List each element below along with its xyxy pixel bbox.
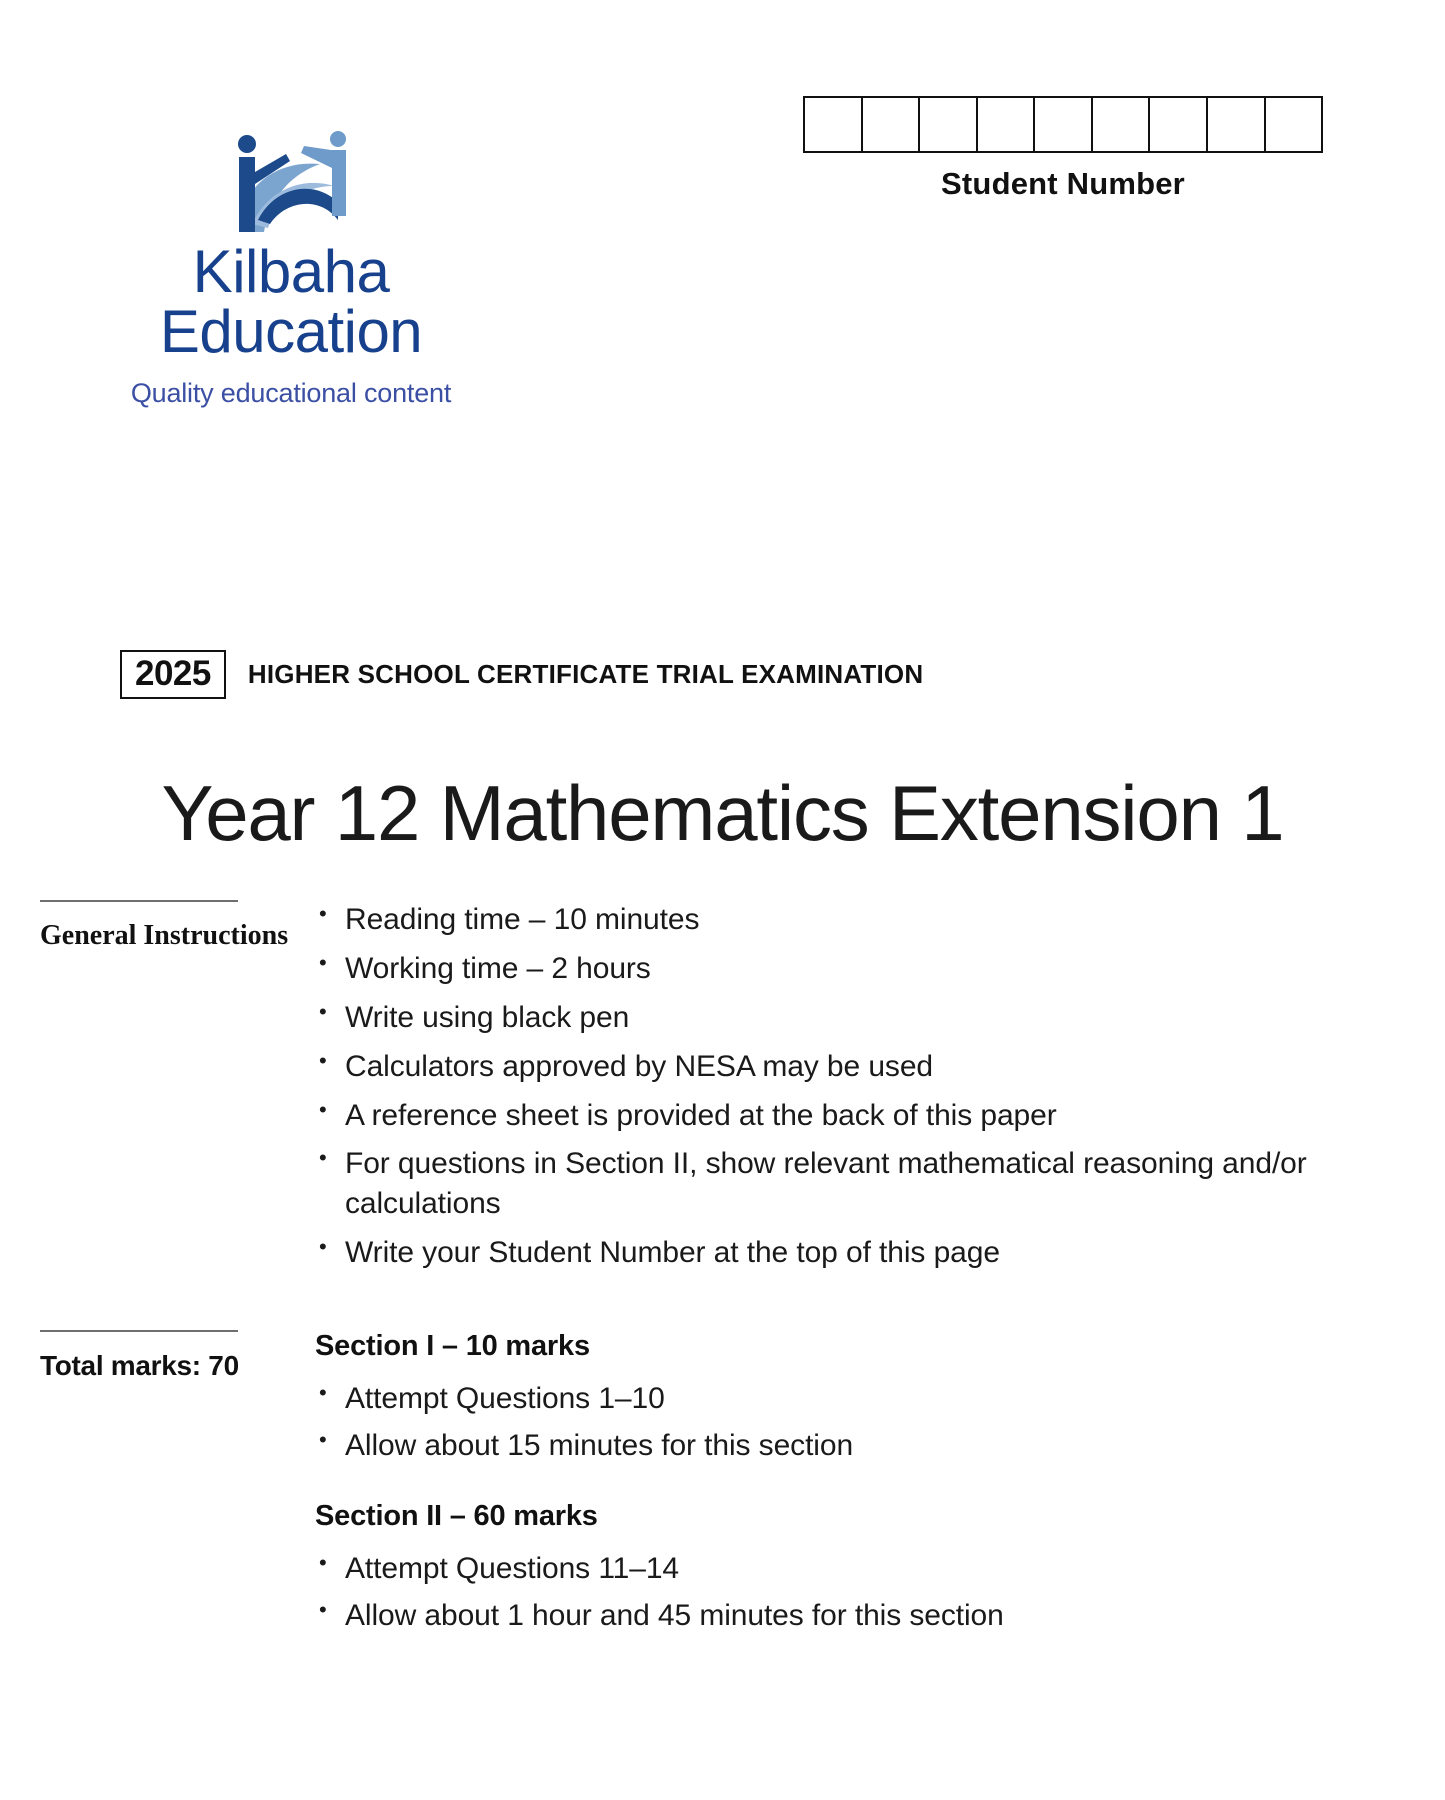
marks-subsection-list: Attempt Questions 1–10Allow about 15 min… xyxy=(315,1379,1004,1466)
label-divider xyxy=(40,900,238,902)
logo-tagline: Quality educational content xyxy=(56,378,526,409)
student-number-cell[interactable] xyxy=(1266,98,1322,151)
marks-subsection-list: Attempt Questions 11–14Allow about 1 hou… xyxy=(315,1549,1004,1636)
label-divider xyxy=(40,1330,238,1332)
kilbaha-logo: Kilbaha Education Quality educational co… xyxy=(56,128,526,409)
general-instructions-label-column: General Instructions xyxy=(40,900,315,1282)
list-item: Calculators approved by NESA may be used xyxy=(315,1047,1445,1087)
list-item: Allow about 15 minutes for this section xyxy=(315,1426,1004,1466)
page-title: Year 12 Mathematics Extension 1 xyxy=(0,768,1445,859)
exam-heading-text: HIGHER SCHOOL CERTIFICATE TRIAL EXAMINAT… xyxy=(248,659,923,690)
student-number-grid[interactable] xyxy=(803,96,1323,153)
exam-heading-row: 2025 HIGHER SCHOOL CERTIFICATE TRIAL EXA… xyxy=(120,650,923,699)
general-instructions-section: General Instructions Reading time – 10 m… xyxy=(40,900,1445,1282)
student-number-cell[interactable] xyxy=(1093,98,1151,151)
student-number-cell[interactable] xyxy=(805,98,863,151)
list-item: Allow about 1 hour and 45 minutes for th… xyxy=(315,1596,1004,1636)
student-number-label: Student Number xyxy=(803,166,1323,202)
marks-subsection-heading: Section I – 10 marks xyxy=(315,1330,1004,1363)
marks-subsection: Section II – 60 marksAttempt Questions 1… xyxy=(315,1500,1004,1636)
student-number-cell[interactable] xyxy=(1150,98,1208,151)
list-item: A reference sheet is provided at the bac… xyxy=(315,1096,1445,1136)
student-number-cell[interactable] xyxy=(1035,98,1093,151)
total-marks-content: Section I – 10 marksAttempt Questions 1–… xyxy=(315,1330,1004,1643)
total-marks-label: Total marks: 70 xyxy=(40,1350,295,1382)
marks-subsection: Section I – 10 marksAttempt Questions 1–… xyxy=(315,1330,1004,1466)
total-marks-section: Total marks: 70 Section I – 10 marksAtte… xyxy=(40,1330,1004,1643)
student-number-cell[interactable] xyxy=(978,98,1036,151)
student-number-block: Student Number xyxy=(803,96,1323,202)
list-item: Write your Student Number at the top of … xyxy=(315,1233,1445,1273)
list-item: For questions in Section II, show releva… xyxy=(315,1144,1445,1224)
two-figures-bridge-icon xyxy=(216,128,366,236)
list-item: Working time – 2 hours xyxy=(315,949,1445,989)
general-instructions-content: Reading time – 10 minutesWorking time – … xyxy=(315,900,1445,1282)
exam-year-badge: 2025 xyxy=(120,650,226,699)
student-number-cell[interactable] xyxy=(1208,98,1266,151)
general-instructions-list: Reading time – 10 minutesWorking time – … xyxy=(315,900,1445,1273)
student-number-cell[interactable] xyxy=(863,98,921,151)
marks-subsection-heading: Section II – 60 marks xyxy=(315,1500,1004,1533)
logo-wordmark: Kilbaha Education xyxy=(56,242,526,362)
list-item: Attempt Questions 11–14 xyxy=(315,1549,1004,1589)
list-item: Attempt Questions 1–10 xyxy=(315,1379,1004,1419)
general-instructions-label: General Instructions xyxy=(40,920,295,952)
list-item: Write using black pen xyxy=(315,998,1445,1038)
total-marks-label-column: Total marks: 70 xyxy=(40,1330,315,1643)
list-item: Reading time – 10 minutes xyxy=(315,900,1445,940)
student-number-cell[interactable] xyxy=(920,98,978,151)
